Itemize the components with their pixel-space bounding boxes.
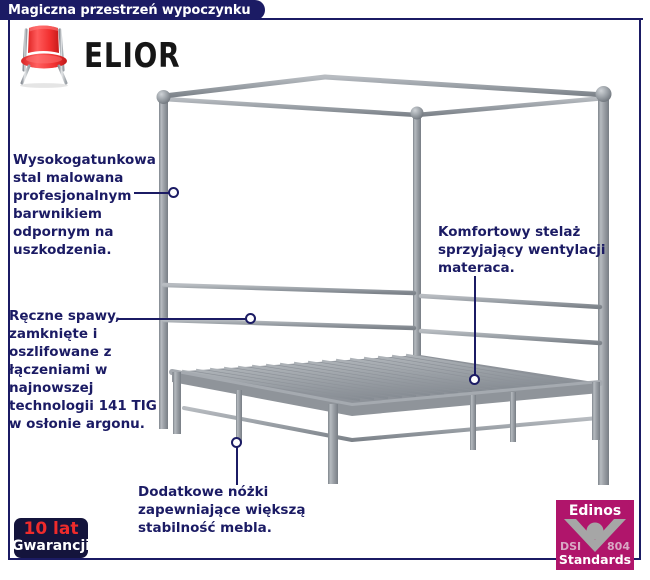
- edinos-certificate-badge: Edinos DSI 804 Standards: [556, 500, 634, 570]
- red-chair-icon: [14, 22, 74, 88]
- warranty-years: 10 lat: [23, 521, 78, 538]
- callout-welds-marker: [245, 313, 256, 324]
- product-infographic: Magiczna przestrzeń wypoczynku: [0, 0, 650, 580]
- edinos-standards-label: Standards: [556, 552, 634, 567]
- brand-name: ELIOR: [84, 36, 180, 76]
- edinos-title: Edinos: [556, 503, 634, 519]
- header-rule: [260, 18, 643, 20]
- callout-feet-leader: [236, 447, 238, 485]
- callout-slats-marker: [469, 374, 480, 385]
- warranty-badge: 10 lat Gwarancji: [14, 518, 88, 558]
- header-banner: Magiczna przestrzeń wypoczynku: [0, 0, 265, 20]
- header-title: Magiczna przestrzeń wypoczynku: [8, 3, 251, 18]
- callout-slats-text: Komfortowy stelaż sprzyjający wentylacji…: [438, 224, 638, 278]
- callout-steel-marker: [168, 187, 179, 198]
- callout-welds-text: Ręczne spawy, zamknięte i oszlifowane z …: [9, 308, 169, 434]
- callout-feet-text: Dodatkowe nóżki zapewniające większą sta…: [138, 484, 338, 538]
- callout-slats-leader: [474, 276, 476, 376]
- callout-feet-marker: [231, 437, 242, 448]
- brand-logo: ELIOR: [14, 22, 189, 88]
- warranty-label: Gwarancji: [12, 538, 90, 554]
- callout-steel-text: Wysokogatunkowa stal malowana profesjona…: [13, 152, 181, 260]
